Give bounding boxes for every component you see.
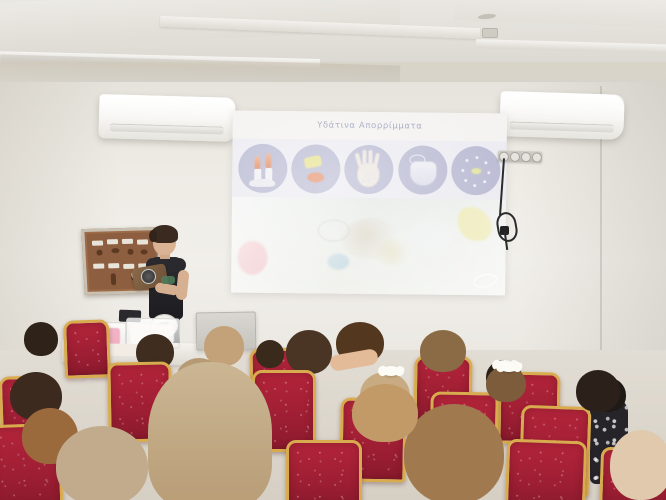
air-conditioner-right [499, 91, 624, 140]
child-pink-shirt [352, 436, 414, 500]
head-child-front-brown [404, 404, 504, 500]
photo-scene: Υδάτινα Απορρίμματα [0, 0, 666, 500]
presenter-badge [161, 276, 175, 284]
ac-vent-right-icon [509, 121, 613, 132]
held-object-dial-icon [141, 269, 156, 284]
slide-icon-row [232, 139, 507, 200]
head-child-brown-2 [286, 330, 332, 374]
slide-title: Υδάτινα Απορρίμματα [317, 120, 422, 131]
ceiling [0, 0, 666, 86]
sponge-soap-icon [291, 144, 341, 194]
head-child-mid-3 [576, 370, 620, 412]
head-child-front-blonde [56, 426, 148, 500]
hair-bow-icon [382, 366, 400, 376]
head-child-small-dark [256, 340, 284, 368]
candle-flames-icon [238, 143, 288, 193]
head-child-front-long-hair [148, 362, 272, 500]
head-child-pink-shirt [352, 384, 418, 442]
ac-face-left [99, 94, 236, 125]
chair-front-3 [505, 439, 587, 500]
photo-glare [231, 197, 506, 296]
hand-microbeads-icon [345, 144, 395, 194]
microplastics-icon [451, 145, 501, 195]
mask-net-icon [398, 145, 448, 195]
projection-screen: Υδάτινα Απορρίμματα [231, 111, 507, 296]
socket-outlet-icon [520, 152, 530, 162]
chair-front-2 [286, 440, 362, 500]
socket-outlet-icon [509, 151, 519, 161]
air-conditioner-left [98, 94, 235, 142]
presenter-right-arm [175, 270, 189, 301]
presenter-hair-bun [149, 230, 157, 242]
ac-vent-left-icon [109, 123, 223, 134]
ac-face-right [500, 91, 625, 123]
slide-title-bar: Υδάτινα Απορρίμματα [233, 111, 507, 142]
head-child-dark-hair [24, 322, 58, 356]
socket-outlet-icon [531, 152, 541, 162]
head-child-light-brown [420, 330, 466, 372]
ceiling-beam-right [476, 39, 666, 54]
marine-debris-photo [231, 197, 506, 296]
chair-back-1 [63, 319, 111, 379]
hair-bow-icon [500, 362, 518, 372]
ceiling-vent-icon [482, 28, 498, 38]
head-child-front-right [610, 430, 666, 500]
